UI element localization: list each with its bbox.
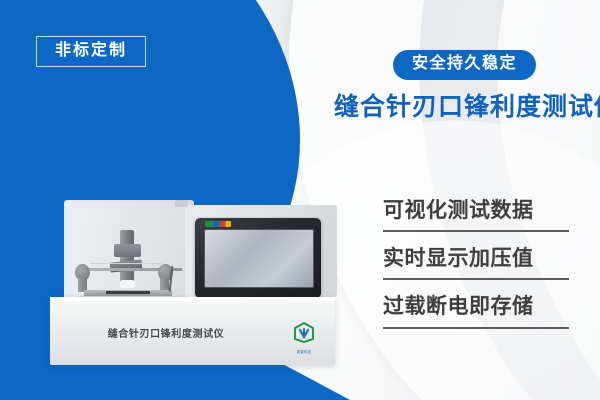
feature-item-2: 实时显示加压值 bbox=[383, 246, 569, 280]
custom-made-badge: 非标定制 bbox=[36, 36, 146, 67]
product-machine-image: 缝合针刃口锋利度测试仪 维普科技 bbox=[50, 200, 335, 365]
fixture-wire bbox=[90, 263, 162, 264]
brand-sticker-icon bbox=[205, 221, 231, 227]
feature-list: 可视化测试数据 实时显示加压值 过载断电即存储 bbox=[383, 198, 569, 329]
machine-base: 缝合针刃口锋利度测试仪 维普科技 bbox=[50, 297, 335, 365]
machine-top-knob bbox=[175, 200, 188, 207]
fixture-dark-slot bbox=[106, 291, 150, 294]
fixture-sample bbox=[120, 280, 135, 288]
manufacturer-logo: 维普科技 bbox=[291, 322, 317, 352]
test-fixture-assembly bbox=[70, 230, 188, 300]
machine-base-top-edge bbox=[50, 297, 335, 306]
company-logo-text: 维普科技 bbox=[291, 349, 317, 354]
touchscreen-display[interactable] bbox=[204, 229, 314, 288]
touchscreen-bezel bbox=[195, 218, 321, 298]
fixture-head bbox=[114, 244, 141, 257]
product-banner: 非标定制 安全持久稳定 缝合针刃口锋利度测试仪 可视化测试数据 实时显示加压值 … bbox=[0, 0, 600, 400]
product-title: 缝合针刃口锋利度测试仪 bbox=[334, 92, 600, 123]
feature-item-3: 过载断电即存储 bbox=[383, 294, 569, 328]
machine-base-label: 缝合针刃口锋利度测试仪 bbox=[50, 325, 282, 340]
feature-item-1: 可视化测试数据 bbox=[383, 198, 569, 232]
company-logo-icon bbox=[293, 322, 315, 343]
feature-pill-badge: 安全持久稳定 bbox=[393, 50, 536, 80]
